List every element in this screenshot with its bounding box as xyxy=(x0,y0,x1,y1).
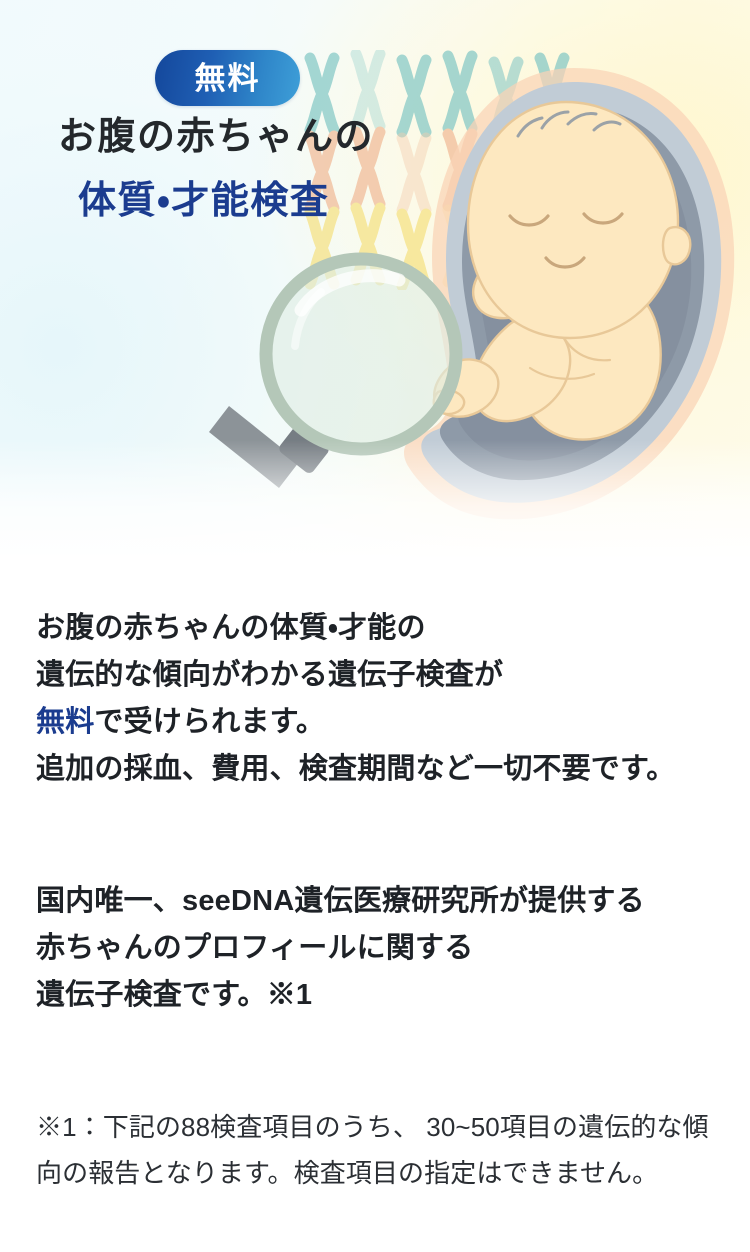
page-root: 無料 お腹の赤ちゃんの 体質・才能検査 お腹の赤ちゃんの体質・才能の 遺伝的な傾… xyxy=(0,0,750,1252)
lead-line-2: 遺伝的な傾向がわかる遺伝子検査が xyxy=(36,659,503,691)
body-section: お腹の赤ちゃんの体質・才能の 遺伝的な傾向がわかる遺伝子検査が 無料で受けられま… xyxy=(0,560,750,1196)
lead-free-accent: 無料 xyxy=(36,706,94,738)
lead-line-1: お腹の赤ちゃんの体質・才能の xyxy=(36,612,426,644)
second-line-3: 遺伝子検査です。※1 xyxy=(36,979,312,1011)
page-title-line-1: お腹の赤ちゃんの xyxy=(0,118,480,156)
page-title-line-2: 体質・才能検査 xyxy=(0,182,480,220)
footnote-text: ※1：下記の88検査項目のうち、 30~50項目の遺伝的な傾向の報告となります。… xyxy=(0,1104,750,1196)
second-line-1: 国内唯一、seeDNA遺伝医療研究所が提供する xyxy=(36,885,645,917)
free-badge-label: 無料 xyxy=(195,63,261,94)
hero-bottom-fade xyxy=(0,440,750,560)
lead-paragraph: お腹の赤ちゃんの体質・才能の 遺伝的な傾向がわかる遺伝子検査が 無料で受けられま… xyxy=(0,605,750,793)
hero-section: 無料 お腹の赤ちゃんの 体質・才能検査 xyxy=(0,0,750,560)
second-paragraph: 国内唯一、seeDNA遺伝医療研究所が提供する 赤ちゃんのプロフィールに関する … xyxy=(0,878,750,1019)
lead-line-3-rest: で受けられます。 xyxy=(94,706,325,738)
free-badge: 無料 xyxy=(155,50,300,106)
second-line-2: 赤ちゃんのプロフィールに関する xyxy=(36,932,473,964)
lead-line-4: 追加の採血、費用、検査期間など一切不要です。 xyxy=(36,753,676,785)
page-title: お腹の赤ちゃんの 体質・才能検査 xyxy=(0,118,480,220)
